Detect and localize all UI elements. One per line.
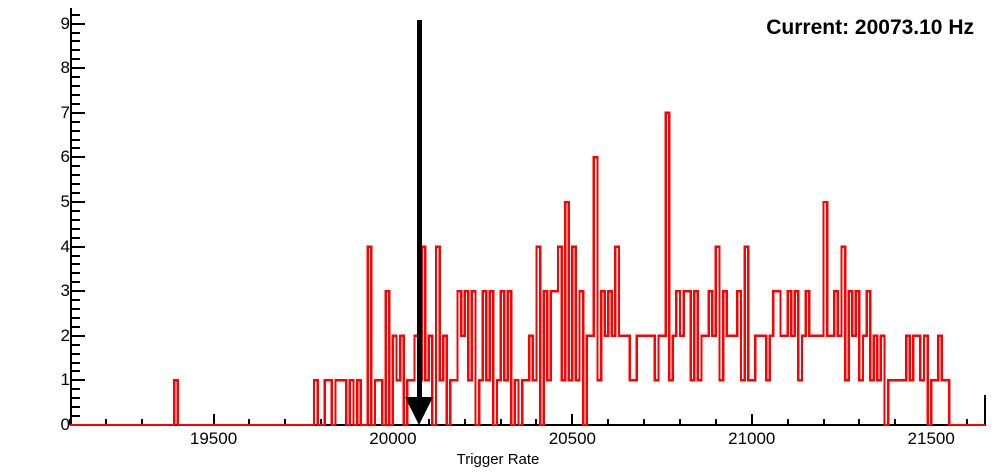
y-axis-label: 7 xyxy=(30,104,70,121)
y-axis-label: 3 xyxy=(30,282,70,299)
x-axis-label: 21500 xyxy=(886,430,976,447)
current-rate-readout: Current: 20073.10 Hz xyxy=(766,16,974,40)
x-axis-label: 19500 xyxy=(169,430,259,447)
y-axis-label: 5 xyxy=(30,193,70,210)
y-axis-label: 9 xyxy=(30,15,70,32)
y-axis-label: 6 xyxy=(30,148,70,165)
histogram-canvas: 0123456789 1950020000205002100021500 Tri… xyxy=(0,0,996,472)
y-axis-label: 0 xyxy=(30,416,70,433)
histogram-path xyxy=(70,113,985,425)
y-axis-label: 2 xyxy=(30,327,70,344)
x-axis-label: 20500 xyxy=(527,430,617,447)
x-axis-label: 20000 xyxy=(348,430,438,447)
x-axis-label: 21000 xyxy=(707,430,797,447)
y-axis-label: 4 xyxy=(30,238,70,255)
histogram-outline xyxy=(70,8,985,427)
y-axis-label: 1 xyxy=(30,371,70,388)
marker-arrowhead-icon xyxy=(405,397,433,425)
histogram-series xyxy=(70,8,985,425)
x-axis-title: Trigger Rate xyxy=(0,452,996,467)
marker-shaft xyxy=(417,20,422,398)
y-axis-label: 8 xyxy=(30,59,70,76)
